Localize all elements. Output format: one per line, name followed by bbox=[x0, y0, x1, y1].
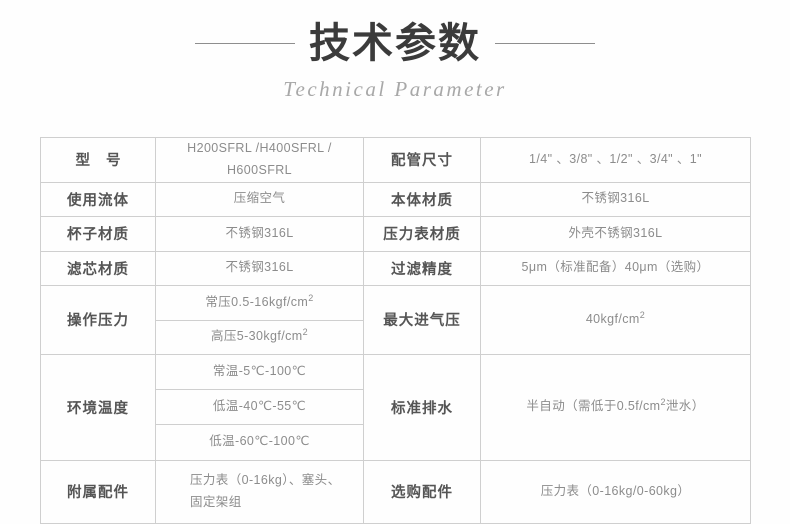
row-label-pipe-size: 配管尺寸 bbox=[364, 138, 481, 183]
title-rule-right-icon bbox=[495, 43, 595, 44]
row-value-included-accessories: 压力表（0-16kg）、塞头、 固定架组 bbox=[156, 460, 364, 523]
row-value-fluid: 压缩空气 bbox=[156, 182, 364, 216]
row-label-fluid: 使用流体 bbox=[41, 182, 156, 216]
row-label-included-accessories: 附属配件 bbox=[41, 460, 156, 523]
included-accessories-line-1: 压力表（0-16kg）、塞头、 bbox=[190, 473, 340, 487]
specification-table: 型 号 H200SFRL /H400SFRL / H600SFRL 配管尺寸 1… bbox=[40, 137, 751, 524]
row-label-optional-accessories: 选购配件 bbox=[364, 460, 481, 523]
row-label-body-material: 本体材质 bbox=[364, 182, 481, 216]
operating-pressure-high-text: 高压5-30kgf/cm bbox=[211, 329, 303, 343]
page-subtitle: Technical Parameter bbox=[0, 77, 790, 102]
row-value-temperature-normal: 常温-5℃-100℃ bbox=[156, 354, 364, 389]
table-row: 使用流体 压缩空气 本体材质 不锈钢316L bbox=[41, 182, 751, 216]
row-value-optional-accessories: 压力表（0-16kg/0-60kg） bbox=[481, 460, 751, 523]
row-value-temperature-low-60: 低温-60℃-100℃ bbox=[156, 424, 364, 460]
row-label-standard-drain: 标准排水 bbox=[364, 354, 481, 460]
row-label-element-material: 滤芯材质 bbox=[41, 251, 156, 285]
table-row: 环境温度 常温-5℃-100℃ 标准排水 半自动（需低于0.5f/cm2泄水） bbox=[41, 354, 751, 389]
table-row: 型 号 H200SFRL /H400SFRL / H600SFRL 配管尺寸 1… bbox=[41, 138, 751, 183]
max-inlet-pressure-text: 40kgf/cm bbox=[586, 312, 640, 326]
row-value-body-material: 不锈钢316L bbox=[481, 182, 751, 216]
table-row: 附属配件 压力表（0-16kg）、塞头、 固定架组 选购配件 压力表（0-16k… bbox=[41, 460, 751, 523]
row-value-gauge-material: 外壳不锈钢316L bbox=[481, 216, 751, 251]
row-label-filtration: 过滤精度 bbox=[364, 251, 481, 285]
row-label-operating-pressure: 操作压力 bbox=[41, 285, 156, 354]
table-row: 滤芯材质 不锈钢316L 过滤精度 5μm（标准配备）40μm（选购） bbox=[41, 251, 751, 285]
row-value-element-material: 不锈钢316L bbox=[156, 251, 364, 285]
row-label-gauge-material: 压力表材质 bbox=[364, 216, 481, 251]
superscript-two: 2 bbox=[308, 293, 313, 303]
row-label-model: 型 号 bbox=[41, 138, 156, 183]
row-value-standard-drain: 半自动（需低于0.5f/cm2泄水） bbox=[481, 354, 751, 460]
page-title-block: 技术参数 Technical Parameter bbox=[0, 22, 790, 102]
title-rule-left-icon bbox=[195, 43, 295, 44]
standard-drain-text-prefix: 半自动（需低于0.5f/cm bbox=[526, 399, 660, 413]
row-label-max-inlet-pressure: 最大进气压 bbox=[364, 285, 481, 354]
row-value-operating-pressure-normal: 常压0.5-16kgf/cm2 bbox=[156, 285, 364, 320]
row-value-operating-pressure-high: 高压5-30kgf/cm2 bbox=[156, 320, 364, 354]
table-row: 操作压力 常压0.5-16kgf/cm2 最大进气压 40kgf/cm2 bbox=[41, 285, 751, 320]
operating-pressure-normal-text: 常压0.5-16kgf/cm bbox=[205, 295, 308, 309]
included-accessories-line-2: 固定架组 bbox=[190, 495, 242, 509]
row-value-filtration: 5μm（标准配备）40μm（选购） bbox=[481, 251, 751, 285]
row-label-ambient-temperature: 环境温度 bbox=[41, 354, 156, 460]
standard-drain-text-suffix: 泄水） bbox=[666, 399, 705, 413]
spec-sheet-page: 技术参数 Technical Parameter 型 号 H200SFRL /H… bbox=[0, 0, 790, 524]
superscript-two: 2 bbox=[303, 327, 308, 337]
row-value-temperature-low-40: 低温-40℃-55℃ bbox=[156, 389, 364, 424]
row-value-max-inlet-pressure: 40kgf/cm2 bbox=[481, 285, 751, 354]
page-title: 技术参数 bbox=[309, 22, 481, 65]
row-label-bowl-material: 杯子材质 bbox=[41, 216, 156, 251]
table-row: 杯子材质 不锈钢316L 压力表材质 外壳不锈钢316L bbox=[41, 216, 751, 251]
row-value-pipe-size: 1/4" 、3/8" 、1/2" 、3/4" 、1" bbox=[481, 138, 751, 183]
title-row: 技术参数 bbox=[0, 22, 790, 65]
row-value-model: H200SFRL /H400SFRL / H600SFRL bbox=[156, 138, 364, 183]
superscript-two: 2 bbox=[640, 310, 645, 320]
row-value-bowl-material: 不锈钢316L bbox=[156, 216, 364, 251]
